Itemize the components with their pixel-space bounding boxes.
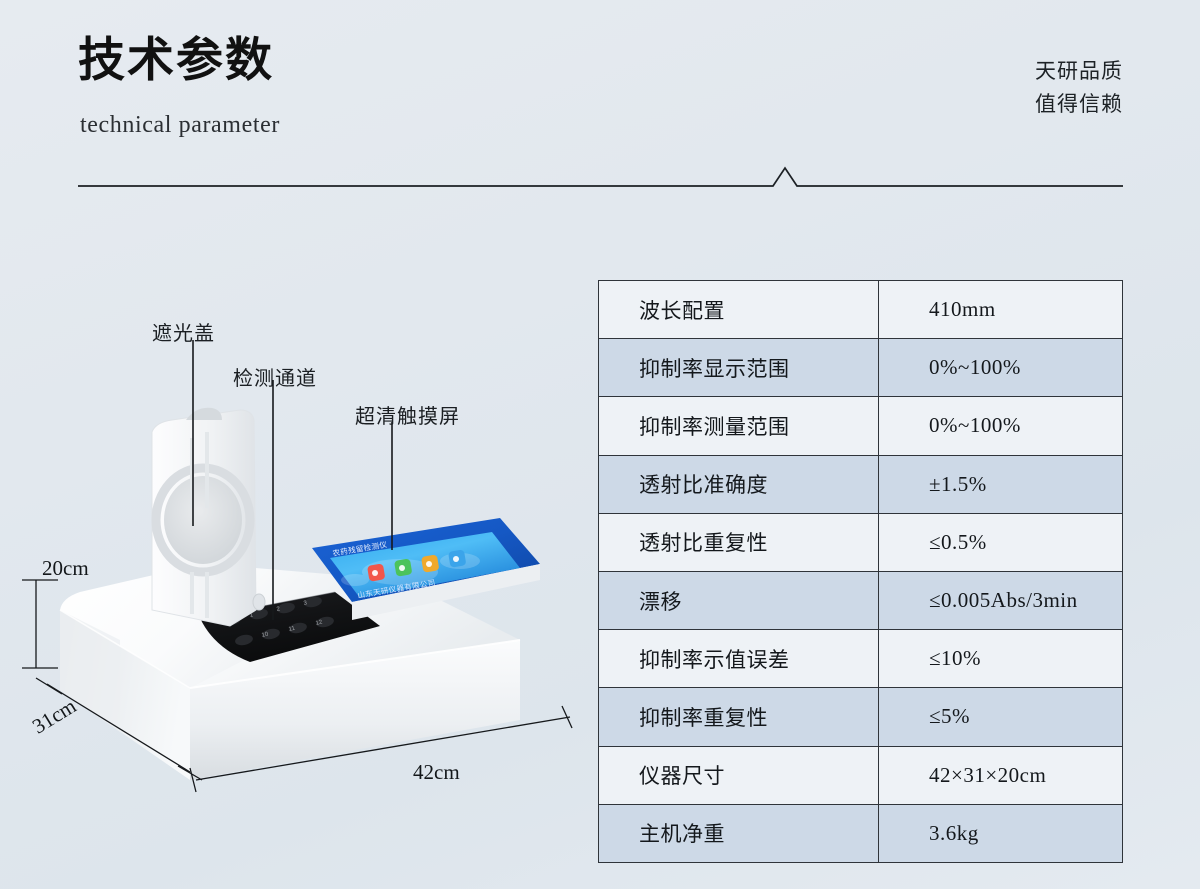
page-subtitle: technical parameter [80,112,280,139]
spec-key: 仪器尺寸 [599,746,879,804]
brand-slogan-line-1: 天研品质 [1035,56,1123,89]
table-row: 主机净重3.6kg [599,804,1123,862]
callout-light-shield-cover: 遮光盖 [152,317,215,346]
spec-key: 抑制率示值误差 [599,630,879,688]
table-row: 波长配置410mm [599,281,1123,339]
spec-key: 透射比准确度 [599,455,879,513]
spec-key: 抑制率重复性 [599,688,879,746]
spec-key: 抑制率测量范围 [599,397,879,455]
spec-key: 抑制率显示范围 [599,339,879,397]
spec-value: ≤0.5% [879,513,1123,571]
table-row: 抑制率示值误差≤10% [599,630,1123,688]
spec-value: ≤10% [879,630,1123,688]
table-row: 抑制率重复性≤5% [599,688,1123,746]
spec-value: 410mm [879,281,1123,339]
spec-value: 42×31×20cm [879,746,1123,804]
spec-key: 波长配置 [599,281,879,339]
table-row: 漂移≤0.005Abs/3min [599,571,1123,629]
spec-value: ±1.5% [879,455,1123,513]
spec-value: ≤0.005Abs/3min [879,571,1123,629]
callout-detection-channel: 检测通道 [233,362,317,391]
table-row: 透射比准确度±1.5% [599,455,1123,513]
table-row: 抑制率测量范围0%~100% [599,397,1123,455]
spec-value: 3.6kg [879,804,1123,862]
spec-table-body: 波长配置410mm抑制率显示范围0%~100%抑制率测量范围0%~100%透射比… [599,281,1123,863]
brand-slogan: 天研品质 值得信赖 [1035,56,1123,121]
spec-key: 主机净重 [599,804,879,862]
table-row: 抑制率显示范围0%~100% [599,339,1123,397]
brand-slogan-line-2: 值得信赖 [1035,89,1123,122]
header-divider [70,160,1130,196]
spec-value: 0%~100% [879,397,1123,455]
technical-parameter-page: 技术参数 technical parameter 天研品质 值得信赖 [0,0,1200,889]
table-row: 仪器尺寸42×31×20cm [599,746,1123,804]
light-shield-lid [152,408,265,626]
spec-key: 透射比重复性 [599,513,879,571]
spec-key: 漂移 [599,571,879,629]
callout-touchscreen: 超清触摸屏 [355,400,460,429]
dimension-label-width: 42cm [413,760,460,785]
spec-value: 0%~100% [879,339,1123,397]
spec-table: 波长配置410mm抑制率显示范围0%~100%抑制率测量范围0%~100%透射比… [598,280,1123,863]
page-title: 技术参数 [78,36,274,88]
dimension-label-height: 20cm [42,556,89,581]
table-row: 透射比重复性≤0.5% [599,513,1123,571]
spec-value: ≤5% [879,688,1123,746]
